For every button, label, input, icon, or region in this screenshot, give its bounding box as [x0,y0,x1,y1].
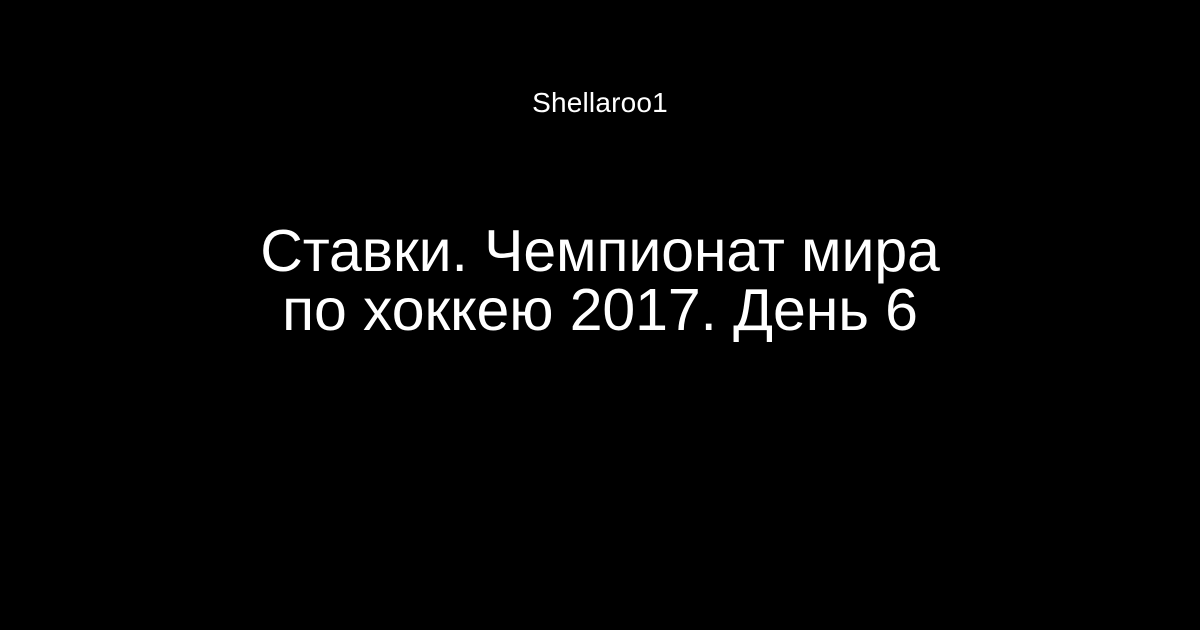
byline-author-name: Shellaroo1 [532,88,668,118]
byline-container: Shellaroo1 [0,0,1200,118]
share-card: Shellaroo1 Ставки. Чемпионат мира по хок… [0,0,1200,630]
empty-lower-region [0,400,1200,630]
page-title: Ставки. Чемпионат мира по хоккею 2017. Д… [100,222,1100,340]
headline-container: Ставки. Чемпионат мира по хоккею 2017. Д… [50,222,1150,340]
